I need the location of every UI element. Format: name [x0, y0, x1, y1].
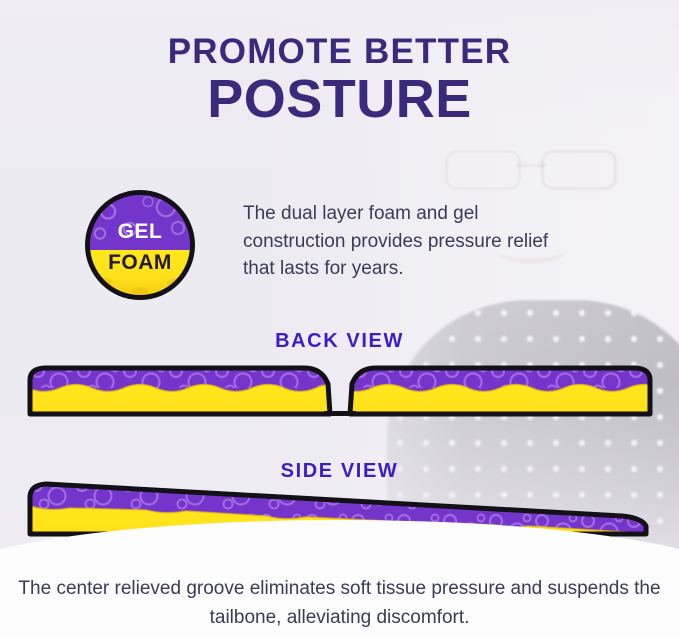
badge-gel-label: GEL: [90, 220, 190, 244]
back-view-label: BACK VIEW: [0, 330, 679, 353]
title-line-1: PROMOTE BETTER: [0, 34, 679, 69]
page-title: PROMOTE BETTER POSTURE: [0, 34, 679, 127]
bottom-caption: The center relieved groove eliminates so…: [0, 575, 679, 633]
side-view-label: SIDE VIEW: [0, 460, 679, 483]
description-paragraph: The dual layer foam and gel construction…: [243, 200, 563, 283]
badge-inner: GEL FOAM: [90, 195, 190, 295]
gel-foam-badge: GEL FOAM: [85, 190, 195, 300]
back-view-right-fill: [340, 362, 660, 420]
back-view-svg: [28, 362, 652, 420]
back-view-left-fill: [28, 362, 348, 420]
center-groove: [324, 411, 356, 416]
title-line-2: POSTURE: [0, 72, 679, 127]
badge-foam-label: FOAM: [90, 251, 190, 275]
infographic-canvas: PROMOTE BETTER POSTURE GEL FOAM The dual…: [0, 0, 679, 637]
back-view-diagram: [28, 362, 652, 420]
